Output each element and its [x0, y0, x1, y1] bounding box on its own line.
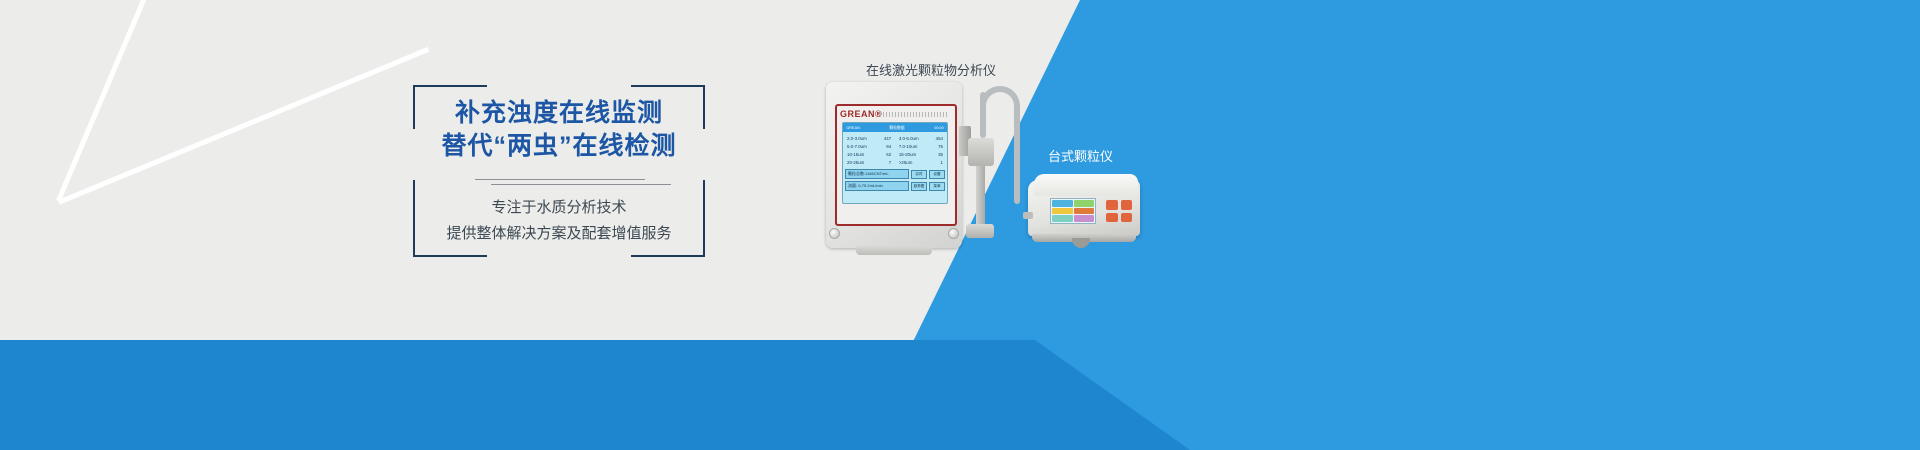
bin-label: 10-15um: [847, 151, 864, 159]
display-button[interactable]: 趋势图: [911, 182, 927, 191]
bench-key[interactable]: [1106, 200, 1118, 210]
bench-display-tile: [1052, 215, 1073, 222]
display-title-center: 颗粒数据: [890, 125, 905, 131]
display-cell: 5.0-7.0um 94: [847, 143, 891, 151]
bench-side-port: [1023, 212, 1033, 219]
bin-value: 447: [884, 135, 891, 143]
display-row: 10-15um 52 15-20um 35: [845, 151, 945, 159]
bench-display-tile: [1074, 200, 1095, 207]
bench-display[interactable]: [1050, 198, 1096, 224]
display-row: 20-25um 7 >25um 1: [845, 159, 945, 167]
bench-particle-counter-image: [1028, 168, 1148, 248]
bench-keypad[interactable]: [1106, 200, 1132, 222]
display-footer: 颗粒总数:1166CNT/mL 实时 设置 流量: 0-75.2mL/min 趋…: [843, 169, 947, 191]
bench-key[interactable]: [1106, 213, 1118, 223]
sample-valve-block: [968, 138, 994, 166]
callout-bench-analyzer: 台式颗粒仪: [1048, 146, 1113, 165]
callout-online-analyzer: 在线激光颗粒物分析仪: [866, 60, 996, 79]
bench-display-tile: [1074, 208, 1095, 215]
display-cell: 20-25um 7: [847, 159, 891, 167]
enclosure-bolt-left: [829, 228, 840, 239]
bin-label: 7.0-10um: [899, 143, 918, 151]
bin-label: 20-25um: [847, 159, 864, 167]
bin-label: 2.0-3.0um: [847, 135, 867, 143]
subtitle-line-1: 专注于水质分析技术: [413, 195, 705, 221]
display-button[interactable]: 设置: [929, 170, 945, 179]
display-row: 5.0-7.0um 94 7.0-10um 76: [845, 143, 945, 151]
hero-banner: 补充浊度在线监测 替代“两虫”在线检测 专注于水质分析技术 提供整体解决方案及配…: [0, 0, 1920, 450]
enclosure-bolt-right: [948, 228, 959, 239]
bin-label: 5.0-7.0um: [847, 143, 867, 151]
display-footer-row: 流量: 0-75.2mL/min 趋势图 菜单: [845, 181, 945, 191]
bench-key[interactable]: [1121, 200, 1133, 210]
headline-divider-upper: [475, 179, 645, 180]
display-cell: >25um 1: [899, 159, 943, 167]
headline-line-1: 补充浊度在线监测: [413, 97, 705, 130]
bin-value: 35: [938, 151, 943, 159]
display-title-right: 00:00: [934, 125, 944, 130]
flow-readout: 流量: 0-75.2mL/min: [845, 181, 909, 191]
analyzer-display[interactable]: GREAN 颗粒数据 00:00 2.0-3.0um 447 3.0-5.0um…: [842, 122, 948, 204]
bench-display-tile: [1074, 215, 1095, 222]
display-data-grid: 2.0-3.0um 447 3.0-5.0um 454 5.0-7.0um 94…: [843, 132, 947, 167]
display-cell: 2.0-3.0um 447: [847, 135, 891, 143]
headline-block: 补充浊度在线监测 替代“两虫”在线检测 专注于水质分析技术 提供整体解决方案及配…: [413, 85, 705, 257]
display-cell: 10-15um 52: [847, 151, 891, 159]
bin-label: 15-20um: [899, 151, 916, 159]
bin-value: 7: [889, 159, 891, 167]
headline-divider-lower: [491, 184, 671, 185]
bin-value: 1: [941, 159, 943, 167]
display-cell: 7.0-10um 76: [899, 143, 943, 151]
display-titlebar: GREAN 颗粒数据 00:00: [843, 123, 947, 132]
bin-value: 94: [886, 143, 891, 151]
bench-display-tile: [1052, 200, 1073, 207]
bin-value: 454: [936, 135, 943, 143]
display-button[interactable]: 菜单: [929, 182, 945, 191]
display-cell: 15-20um 35: [899, 151, 943, 159]
total-count-readout: 颗粒总数:1166CNT/mL: [845, 169, 909, 179]
display-row: 2.0-3.0um 447 3.0-5.0um 454: [845, 135, 945, 143]
bench-top-cover: [1034, 174, 1138, 196]
analyzer-vent-stripe: [880, 112, 948, 117]
bin-value: 76: [938, 143, 943, 151]
bin-label: >25um: [899, 159, 913, 167]
sample-stand-post: [976, 166, 985, 226]
bench-key[interactable]: [1121, 213, 1133, 223]
sample-tube-right-leg: [1014, 104, 1020, 204]
display-footer-row: 颗粒总数:1166CNT/mL 实时 设置: [845, 169, 945, 179]
sample-tube-left-leg: [980, 92, 986, 138]
display-title-left: GREAN: [846, 125, 860, 130]
online-particle-analyzer-image: GREAN® GREAN 颗粒数据 00:00 2.0-3.0um 447 3.…: [818, 78, 970, 258]
display-button[interactable]: 实时: [911, 170, 927, 179]
page-title: 补充浊度在线监测 替代“两虫”在线检测: [413, 97, 705, 163]
headline-line-2: 替代“两虫”在线检测: [413, 130, 705, 163]
analyzer-brand-label: GREAN®: [840, 109, 882, 119]
bench-front-knob: [1072, 238, 1090, 248]
subtitle: 专注于水质分析技术 提供整体解决方案及配套增值服务: [413, 195, 705, 247]
sample-stand-base: [966, 224, 994, 238]
bin-value: 52: [886, 151, 891, 159]
bin-label: 3.0-5.0um: [899, 135, 919, 143]
display-cell: 3.0-5.0um 454: [899, 135, 943, 143]
subtitle-line-2: 提供整体解决方案及配套增值服务: [413, 221, 705, 247]
bench-display-tile: [1052, 208, 1073, 215]
analyzer-bottom-bracket: [856, 246, 932, 255]
